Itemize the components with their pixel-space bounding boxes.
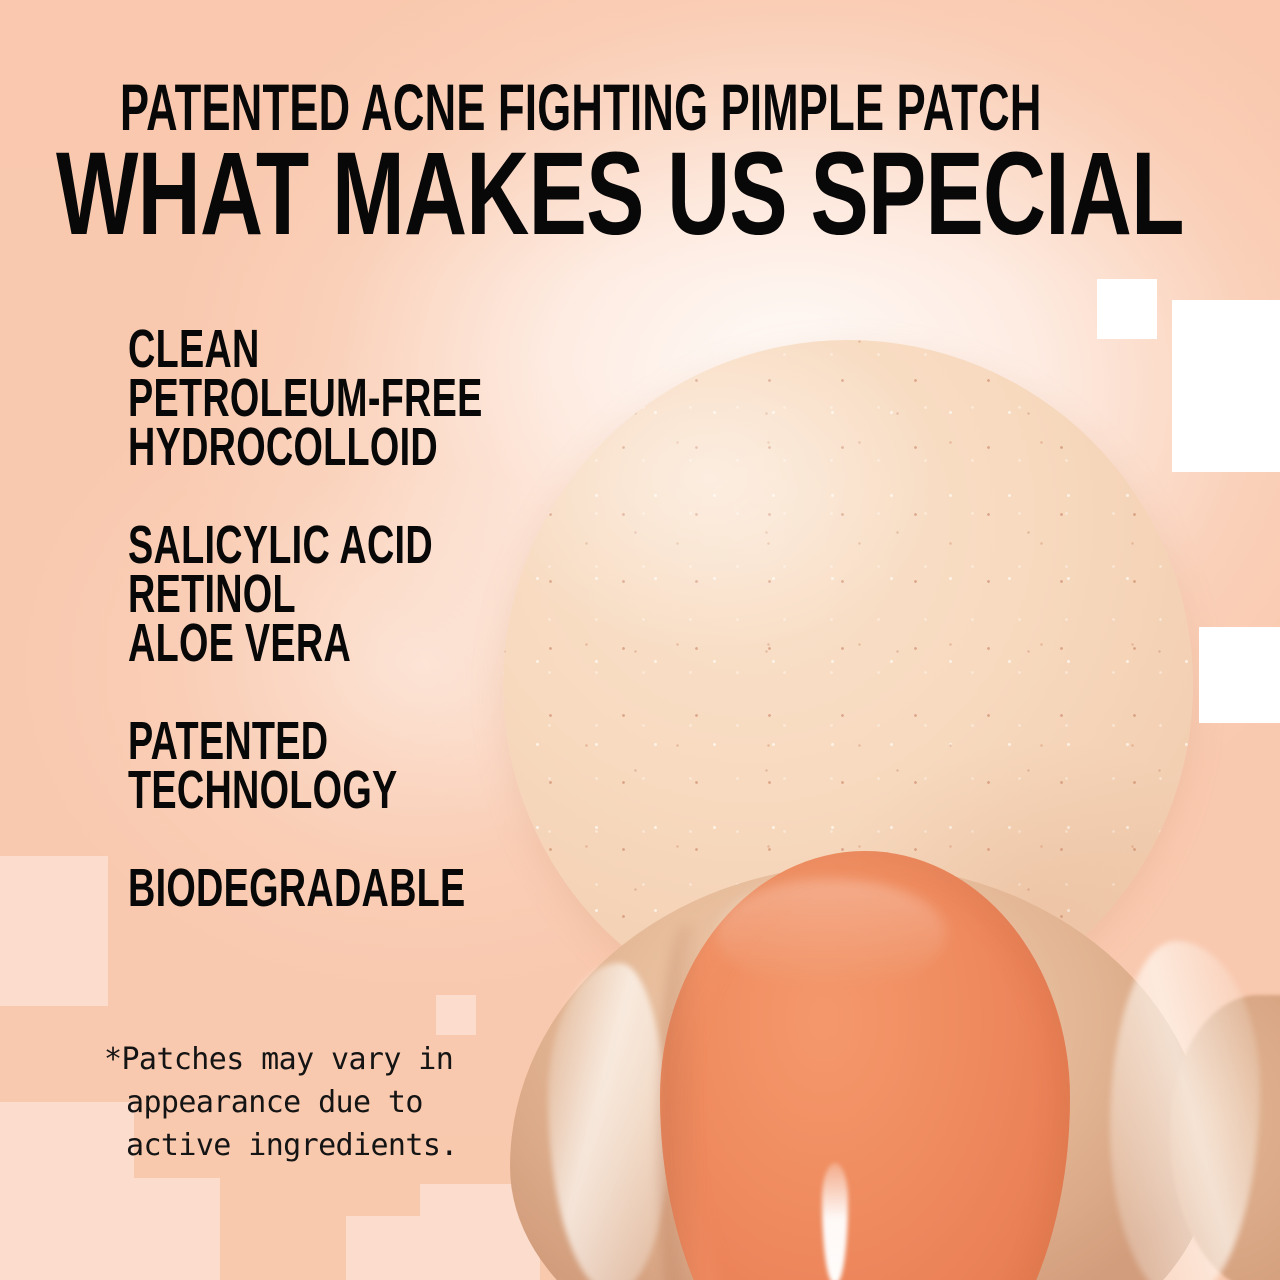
finger-highlight-left: [548, 963, 668, 1280]
nail-gloss-top: [716, 879, 946, 989]
feature-line: BIODEGRADABLE: [128, 865, 429, 911]
finger-highlight-right: [1110, 941, 1260, 1280]
promo-graphic-canvas: PATENTED ACNE FIGHTING PIMPLE PATCH WHAT…: [0, 0, 1280, 1280]
feature-line: CLEAN: [128, 326, 429, 372]
feature-line: SALICYLIC ACID: [128, 522, 429, 568]
disclaimer-footnote: *Patches may vary inappearance due toact…: [104, 1038, 524, 1167]
page-title: WHAT MAKES US SPECIAL: [56, 138, 1184, 250]
feature-line: PETROLEUM-FREE: [128, 375, 429, 421]
feature-line: PATENTED: [128, 718, 429, 764]
fingertip-photo: [470, 845, 1280, 1280]
feature-group-active-ingredients: SALICYLIC ACIDRETINOLALOE VERA: [128, 522, 558, 666]
feature-group-patented-technology: PATENTEDTECHNOLOGY: [128, 718, 558, 813]
feature-list: CLEANPETROLEUM-FREEHYDROCOLLOIDSALICYLIC…: [128, 326, 558, 914]
feature-line: ALOE VERA: [128, 620, 429, 666]
feature-line: TECHNOLOGY: [128, 767, 429, 813]
feature-group-biodegradable: BIODEGRADABLE: [128, 865, 558, 911]
footnote-line: active ingredients.: [104, 1124, 524, 1167]
feature-line: RETINOL: [128, 571, 429, 617]
footnote-line: *Patches may vary in: [104, 1038, 524, 1081]
footnote-line: appearance due to: [104, 1081, 524, 1124]
feature-group-clean-formula: CLEANPETROLEUM-FREEHYDROCOLLOID: [128, 326, 558, 470]
feature-line: HYDROCOLLOID: [128, 424, 429, 470]
